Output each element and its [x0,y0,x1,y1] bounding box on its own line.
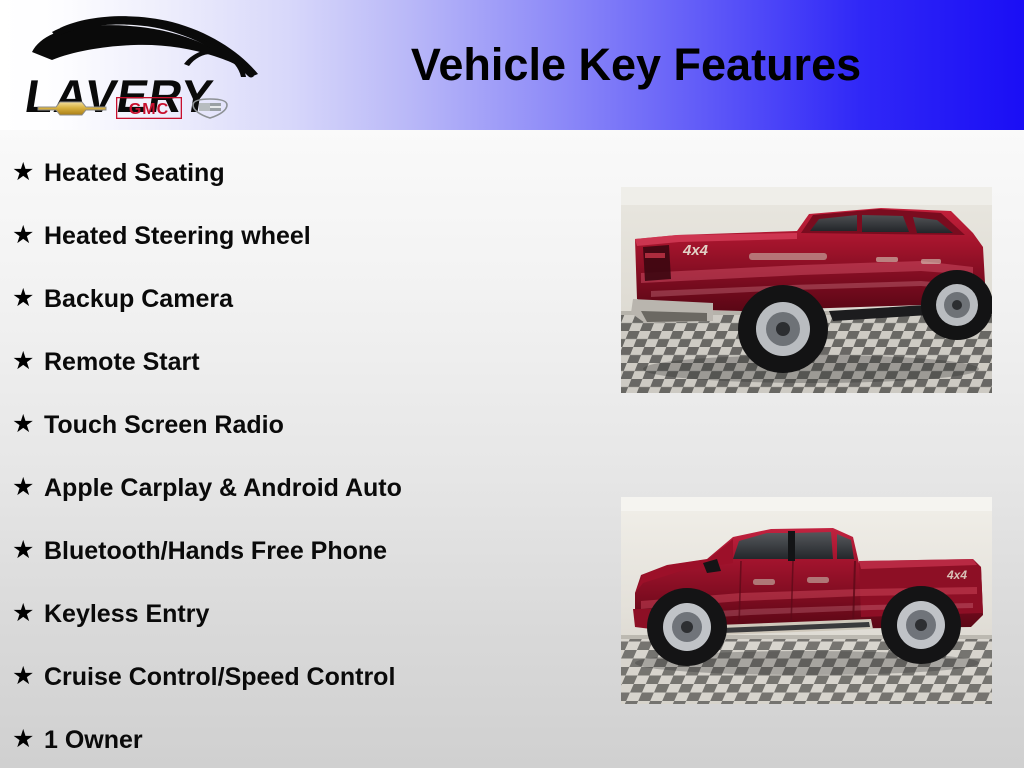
cadillac-crest-icon [190,97,230,119]
feature-label: Keyless Entry [44,599,209,629]
list-item: ★ 1 Owner [0,708,600,768]
list-item: ★ Touch Screen Radio [0,393,600,456]
list-item: ★ Apple Carplay & Android Auto [0,456,600,519]
star-bullet-icon: ★ [12,664,44,689]
header-banner: LAVERY [0,0,1024,130]
gmc-logo-icon: GMC [116,97,182,119]
feature-label: Cruise Control/Speed Control [44,662,395,692]
list-item: ★ Cruise Control/Speed Control [0,645,600,708]
list-item: ★ Backup Camera [0,267,600,330]
list-item: ★ Keyless Entry [0,582,600,645]
page-title: Vehicle Key Features [286,36,986,94]
feature-label: Backup Camera [44,284,233,314]
svg-text:GMC: GMC [129,101,169,118]
brand-logos-row: GMC [36,94,236,122]
feature-label: Heated Seating [44,158,225,188]
star-bullet-icon: ★ [12,286,44,311]
chevrolet-bowtie-icon [36,96,108,120]
star-bullet-icon: ★ [12,223,44,248]
star-bullet-icon: ★ [12,349,44,374]
slide-canvas: LAVERY [0,0,1024,768]
feature-label: Touch Screen Radio [44,410,284,440]
star-bullet-icon: ★ [12,538,44,563]
star-bullet-icon: ★ [12,727,44,752]
list-item: ★ Bluetooth/Hands Free Phone [0,519,600,582]
feature-list: ★ Heated Seating ★ Heated Steering wheel… [0,141,600,768]
star-bullet-icon: ★ [12,601,44,626]
svg-text:4x4: 4x4 [946,568,967,582]
list-item: ★ Remote Start [0,330,600,393]
feature-label: Heated Steering wheel [44,221,311,251]
list-item: ★ Heated Steering wheel [0,204,600,267]
star-bullet-icon: ★ [12,412,44,437]
star-bullet-icon: ★ [12,160,44,185]
feature-label: Bluetooth/Hands Free Phone [44,536,387,566]
list-item: ★ Heated Seating [0,141,600,204]
feature-label: Apple Carplay & Android Auto [44,473,402,503]
vehicle-photo-rear-three-quarter: 4x4 [621,187,992,393]
vehicle-photo-side-profile: 4x4 [621,497,992,704]
feature-label: 1 Owner [44,725,143,755]
feature-label: Remote Start [44,347,200,377]
svg-text:4x4: 4x4 [682,242,709,259]
star-bullet-icon: ★ [12,475,44,500]
dealer-logo: LAVERY [14,6,270,124]
